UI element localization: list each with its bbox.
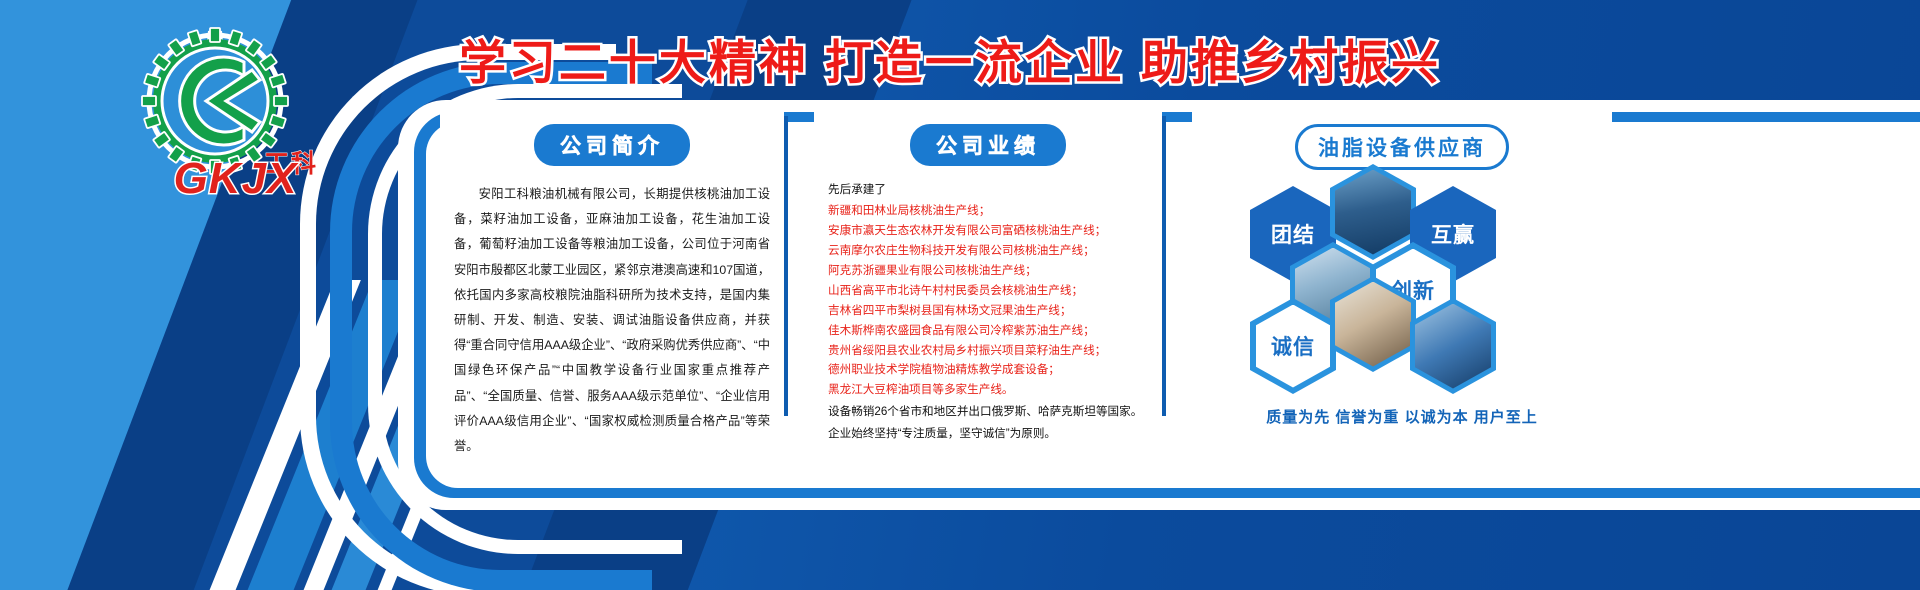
handshake-photo (1335, 282, 1411, 367)
performance-item: 云南摩尔农庄生物科技开发有限公司核桃油生产线； (828, 241, 1150, 261)
panel-supplier: 油脂设备供应商 团结 互赢 创新 (1192, 110, 1612, 435)
performance-lead: 先后承建了 (828, 180, 1150, 200)
hex-image-aircraft-carrier (1330, 164, 1416, 260)
hex-integrity-inner: 诚信 (1256, 305, 1330, 388)
panel-gap-2 (1166, 110, 1192, 435)
building-photo (1415, 304, 1491, 389)
performance-item: 德州职业技术学院植物油精炼教学成套设备； (828, 360, 1150, 380)
performance-tail-line: 企业始终坚持“专注质量，坚守诚信”为原则。 (828, 424, 1150, 444)
page-title: 学习二十大精神 打造一流企业 助推乡村振兴 (430, 24, 1470, 93)
aircraft-carrier-photo (1335, 170, 1411, 255)
hex-label-integrity: 诚信 (1271, 331, 1315, 361)
panel-title-wrap-2: 公司业绩 (814, 124, 1162, 166)
performance-item: 吉林省四平市梨树县国有林场文冠果油生产线； (828, 301, 1150, 321)
panel-company-profile: 公司简介 安阳工科粮油机械有限公司，长期提供核桃油加工设备，菜籽油加工设备，亚麻… (440, 110, 784, 435)
panel-title-wrap: 公司简介 (440, 124, 784, 166)
performance-items: 新疆和田林业局核桃油生产线；安康市瀛天生态农林开发有限公司富硒核桃油生产线；云南… (828, 201, 1150, 400)
performance-item: 贵州省绥阳县农业农村局乡村振兴项目菜籽油生产线； (828, 341, 1150, 361)
company-profile-body: 安阳工科粮油机械有限公司，长期提供核桃油加工设备，菜籽油加工设备，亚麻油加工设备… (454, 182, 770, 459)
hex-label-unity: 团结 (1271, 219, 1315, 249)
performance-list: 先后承建了 新疆和田林业局核桃油生产线；安康市瀛天生态农林开发有限公司富硒核桃油… (828, 180, 1150, 444)
hexagon-cluster: 团结 互赢 创新 (1192, 180, 1612, 385)
performance-item: 阿克苏浙疆果业有限公司核桃油生产线； (828, 261, 1150, 281)
performance-tail: 设备畅销26个省市和地区并出口俄罗斯、哈萨克斯坦等国家。企业始终坚持“专注质量，… (828, 402, 1150, 444)
performance-item: 新疆和田林业局核桃油生产线； (828, 201, 1150, 221)
panel-title-supplier: 油脂设备供应商 (1295, 124, 1509, 170)
performance-item: 黑龙江大豆榨油项目等多家生产线。 (828, 380, 1150, 400)
panel-gap-1 (788, 110, 814, 435)
banner-canvas: 工科 GKJX 学习二十大精神 打造一流企业 助推乡村振兴 公司简介 安阳工科粮… (0, 0, 1920, 590)
supplier-slogan: 质量为先 信誉为重 以诚为本 用户至上 (1192, 406, 1612, 427)
company-logo: 工科 GKJX (112, 26, 342, 216)
performance-item: 山西省高平市北诗午村村民委员会核桃油生产线； (828, 281, 1150, 301)
panel-title-company-performance: 公司业绩 (910, 124, 1066, 166)
panel-company-performance: 公司业绩 先后承建了 新疆和田林业局核桃油生产线；安康市瀛天生态农林开发有限公司… (814, 110, 1162, 435)
hex-label-mutual-win: 互赢 (1431, 219, 1475, 249)
panel-title-company-profile: 公司简介 (534, 124, 690, 166)
performance-item: 佳木斯桦南农盛园食品有限公司冷榨紫苏油生产线； (828, 321, 1150, 341)
logo-english-name: GKJX (128, 154, 343, 204)
performance-item: 安康市瀛天生态农林开发有限公司富硒核桃油生产线； (828, 221, 1150, 241)
performance-tail-line: 设备畅销26个省市和地区并出口俄罗斯、哈萨克斯坦等国家。 (828, 402, 1150, 422)
panel-title-wrap-3: 油脂设备供应商 (1192, 124, 1612, 170)
panel-container: 公司简介 安阳工科粮油机械有限公司，长期提供核桃油加工设备，菜籽油加工设备，亚麻… (440, 110, 1888, 435)
